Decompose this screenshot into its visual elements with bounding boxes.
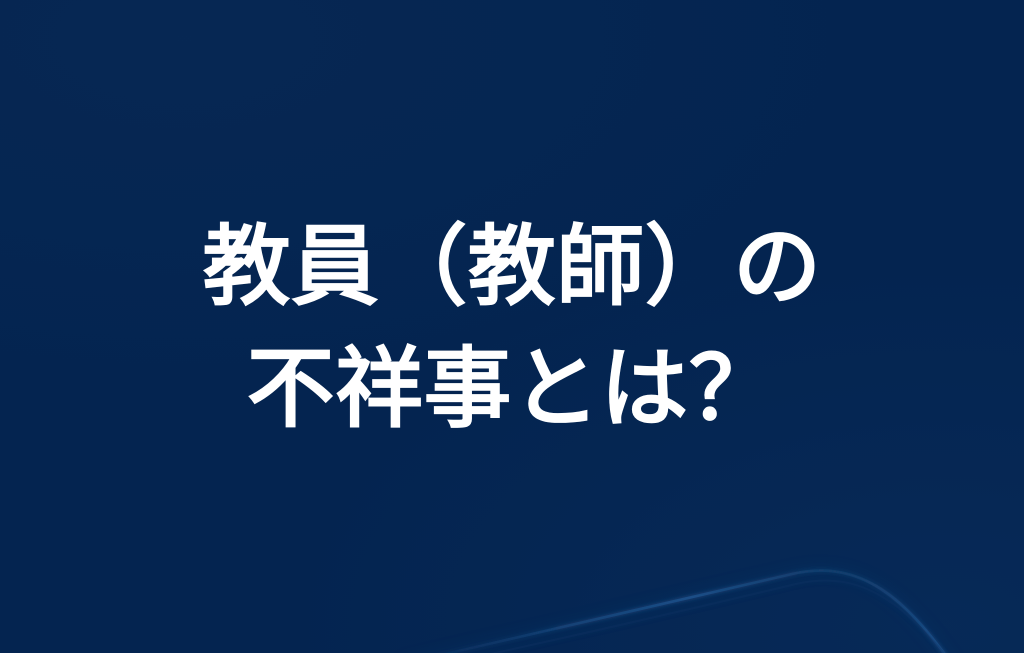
title-block: 教員（教師）の 不祥事とは？ <box>0 0 1024 653</box>
slide-canvas: 教員（教師）の 不祥事とは？ <box>0 0 1024 653</box>
title-line-2: 不祥事とは？ <box>247 328 778 450</box>
title-line-1: 教員（教師）の <box>202 206 821 328</box>
